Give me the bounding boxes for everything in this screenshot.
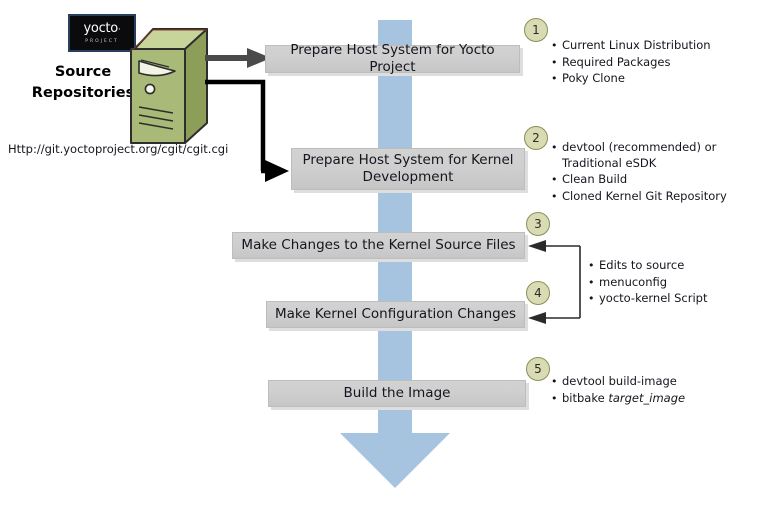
step-badge-4: 4 bbox=[526, 281, 550, 305]
bitbake-command: bitbake bbox=[562, 391, 608, 405]
list-item: devtool build-image bbox=[562, 374, 685, 390]
step-badge-5-number: 5 bbox=[534, 362, 542, 376]
step-badge-5: 5 bbox=[526, 357, 550, 381]
step-box-2[interactable]: Prepare Host System for Kernel Developme… bbox=[291, 148, 525, 190]
list-item: Required Packages bbox=[562, 55, 711, 71]
diagram-canvas: yocto· PROJECT Source Repositories Http:… bbox=[0, 0, 769, 517]
server-tower-icon bbox=[129, 27, 209, 145]
list-item: Poky Clone bbox=[562, 71, 711, 87]
step-5-bullets: devtool build-image bitbake target_image bbox=[549, 374, 685, 407]
connector-server-to-step2 bbox=[205, 78, 290, 183]
step-badge-4-number: 4 bbox=[534, 286, 542, 300]
step-box-3[interactable]: Make Changes to the Kernel Source Files bbox=[232, 232, 525, 259]
step-badge-1-number: 1 bbox=[532, 23, 540, 37]
step-box-4[interactable]: Make Kernel Configuration Changes bbox=[266, 301, 525, 328]
flow-arrow-shaft bbox=[378, 20, 412, 435]
flow-arrow-head-icon bbox=[340, 433, 450, 488]
step-2-bullets: devtool (recommended) or Traditional eSD… bbox=[549, 140, 749, 205]
step-box-5[interactable]: Build the Image bbox=[268, 380, 526, 407]
yocto-logo-text: yocto bbox=[84, 21, 118, 36]
list-item: Clean Build bbox=[562, 172, 749, 188]
step-badge-2: 2 bbox=[524, 126, 548, 150]
list-item: Edits to source bbox=[599, 258, 708, 274]
step-box-1[interactable]: Prepare Host System for Yocto Project bbox=[265, 45, 520, 73]
step-box-3-label: Make Changes to the Kernel Source Files bbox=[241, 237, 515, 254]
list-item: devtool (recommended) or Traditional eSD… bbox=[562, 140, 727, 171]
yocto-project-logo: yocto· PROJECT bbox=[68, 14, 136, 52]
yocto-logo-dot: · bbox=[118, 25, 121, 35]
list-item: bitbake target_image bbox=[562, 391, 685, 407]
steps-3-4-bullets: Edits to source menuconfig yocto-kernel … bbox=[586, 258, 708, 308]
bitbake-target-arg: target_image bbox=[608, 391, 685, 405]
step-badge-2-number: 2 bbox=[532, 131, 540, 145]
step-1-bullets: Current Linux Distribution Required Pack… bbox=[549, 38, 711, 88]
step-box-4-label: Make Kernel Configuration Changes bbox=[275, 306, 516, 323]
step-box-1-label: Prepare Host System for Yocto Project bbox=[266, 42, 519, 76]
step-box-5-label: Build the Image bbox=[344, 385, 451, 402]
step-box-2-label: Prepare Host System for Kernel Developme… bbox=[292, 152, 524, 186]
list-item: Cloned Kernel Git Repository bbox=[562, 189, 749, 205]
yocto-logo-wordmark: yocto· bbox=[84, 22, 121, 37]
step-badge-3: 3 bbox=[526, 212, 550, 236]
step-badge-3-number: 3 bbox=[534, 217, 542, 231]
list-item: menuconfig bbox=[599, 275, 708, 291]
yocto-logo-subtext: PROJECT bbox=[85, 38, 118, 45]
list-item: yocto-kernel Script bbox=[599, 291, 708, 307]
step-badge-1: 1 bbox=[524, 18, 548, 42]
list-item: Current Linux Distribution bbox=[562, 38, 711, 54]
